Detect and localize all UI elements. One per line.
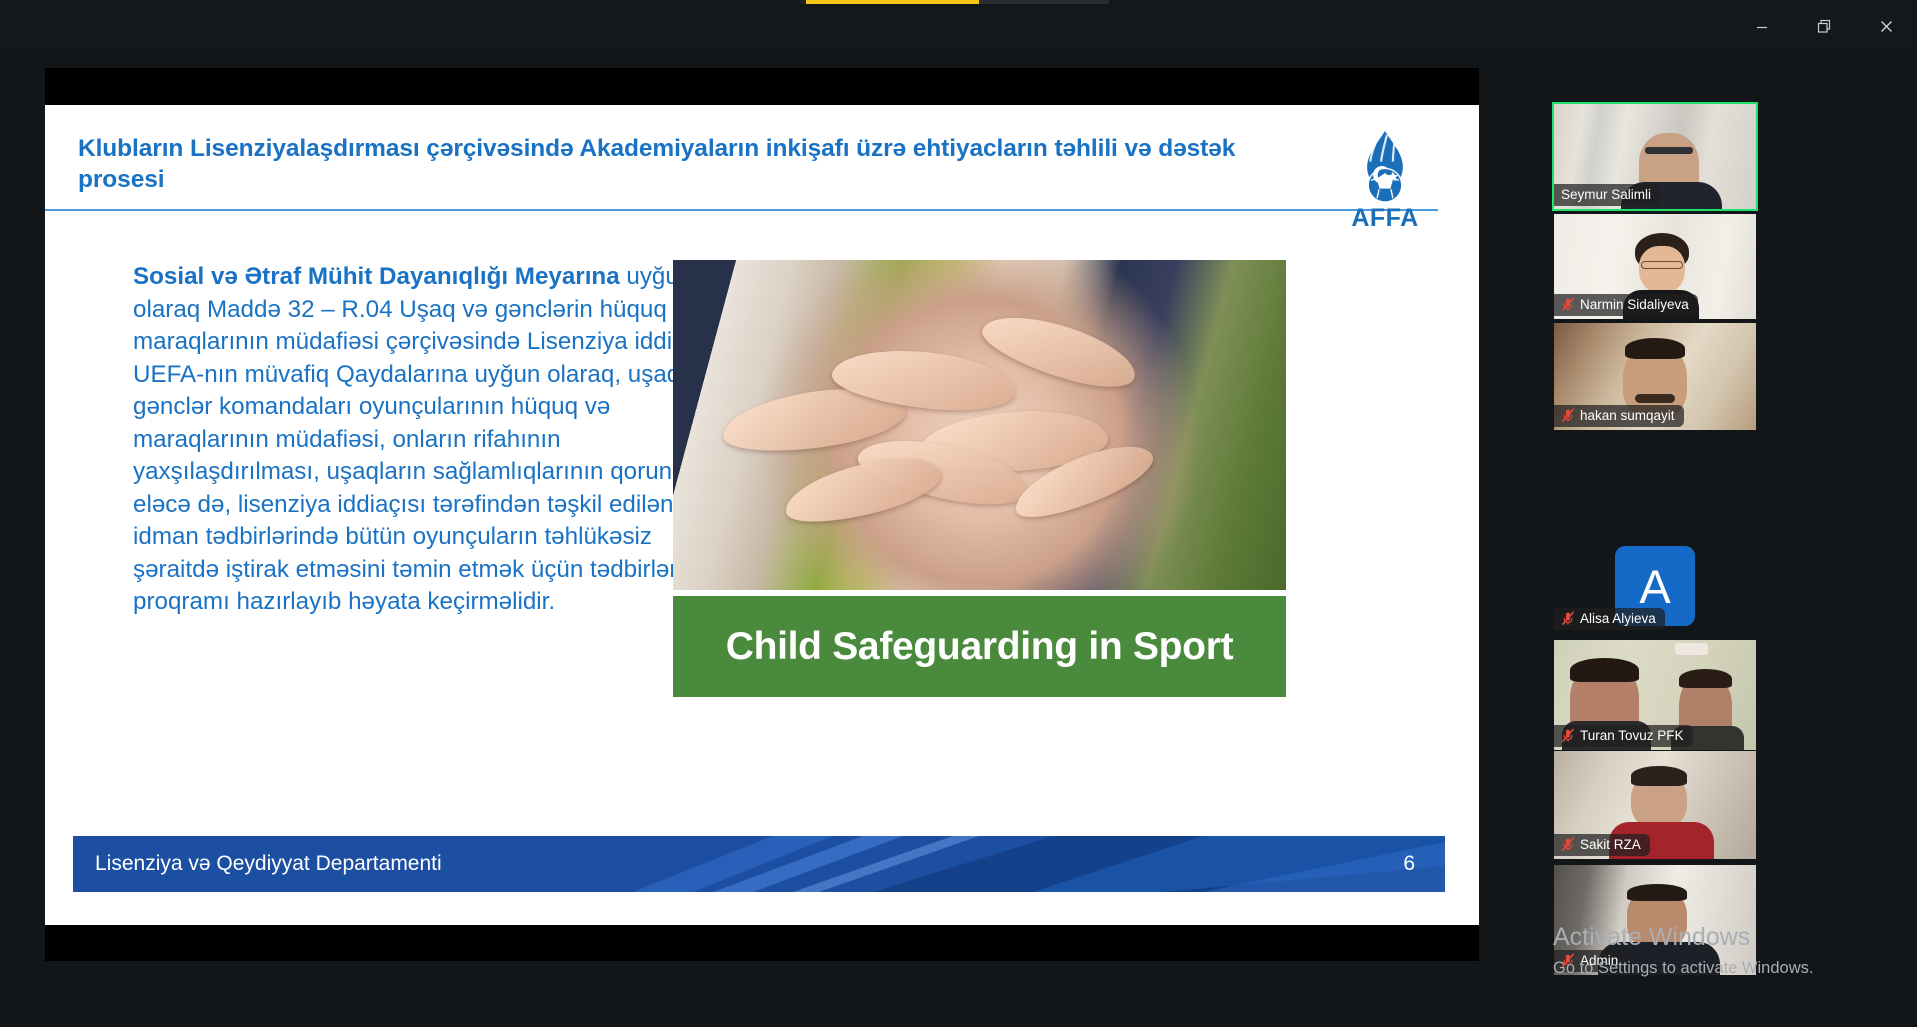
participant-tile-admin[interactable]: Admin bbox=[1554, 865, 1756, 975]
slide-body-text: Sosial və Ətraf Mühit Dayanıqlığı Meyarı… bbox=[133, 261, 738, 619]
participant-name: Narmin Sidaliyeva bbox=[1580, 297, 1689, 312]
restore-button[interactable] bbox=[1793, 0, 1855, 53]
shared-screen-stage[interactable]: Klubların Lisenziyalaşdırması çərçivəsin… bbox=[45, 68, 1479, 961]
participant-name: hakan sumqayit bbox=[1580, 408, 1675, 423]
participant-name: Alisa Alyieva bbox=[1580, 611, 1656, 626]
presentation-slide: Klubların Lisenziyalaşdırması çərçivəsin… bbox=[45, 105, 1479, 925]
participant-name-badge: Admin bbox=[1554, 950, 1627, 972]
close-icon bbox=[1878, 18, 1895, 35]
close-button[interactable] bbox=[1855, 0, 1917, 53]
microphone-muted-icon bbox=[1561, 611, 1575, 626]
participant-tile-hakan-sumqayit[interactable]: hakan sumqayit bbox=[1554, 323, 1756, 430]
app-root: Klubların Lisenziyalaşdırması çərçivəsin… bbox=[0, 0, 1917, 1027]
participant-tile-seymur-salimli[interactable]: Seymur Salimli bbox=[1554, 104, 1756, 209]
participant-filmstrip[interactable]: Seymur Salimli Narmin Sidaliyeva bbox=[1492, 68, 1917, 961]
footer-department-label: Lisenziya və Qeydiyyat Departamenti bbox=[95, 852, 442, 876]
microphone-muted-icon bbox=[1561, 408, 1575, 423]
avatar-initial: A bbox=[1639, 559, 1670, 614]
microphone-muted-icon bbox=[1561, 953, 1575, 968]
participant-name-badge: Sakit RZA bbox=[1554, 834, 1650, 856]
slide-body-rest: uyğun olaraq Maddə 32 – R.04 Uşaq və gən… bbox=[133, 263, 731, 615]
slide-footer-bar: Lisenziya və Qeydiyyat Departamenti 6 bbox=[73, 836, 1445, 892]
minimize-button[interactable] bbox=[1731, 0, 1793, 53]
participant-name-badge: hakan sumqayit bbox=[1554, 405, 1684, 427]
title-divider bbox=[45, 209, 1438, 211]
participant-name-badge: Narmin Sidaliyeva bbox=[1554, 294, 1698, 316]
window-titlebar bbox=[0, 0, 1917, 53]
affa-flame-ball-icon bbox=[1348, 129, 1422, 206]
clipped-toolbar-strip bbox=[800, 0, 1109, 4]
participant-name: Sakit RZA bbox=[1580, 837, 1641, 852]
affa-logo: AFFA bbox=[1331, 129, 1439, 233]
participant-name-badge: Seymur Salimli bbox=[1554, 184, 1660, 206]
microphone-muted-icon bbox=[1561, 728, 1575, 743]
photo-caption: Child Safeguarding in Sport bbox=[673, 596, 1286, 697]
participant-tile-sakit-rza[interactable]: Sakit RZA bbox=[1554, 751, 1756, 859]
participant-tile-turan-tovuz-pfk[interactable]: Turan Tovuz PFK bbox=[1554, 640, 1756, 750]
slide-photo-block: Child Safeguarding in Sport bbox=[673, 260, 1286, 697]
microphone-muted-icon bbox=[1561, 837, 1575, 852]
slide-body-lead: Sosial və Ətraf Mühit Dayanıqlığı Meyarı… bbox=[133, 263, 620, 290]
participant-tile-narmin-sidaliyeva[interactable]: Narmin Sidaliyeva bbox=[1554, 214, 1756, 319]
participant-name: Admin bbox=[1580, 953, 1618, 968]
hands-together-photo bbox=[673, 260, 1286, 590]
participant-tile-alisa-alyieva[interactable]: A Alisa Alyieva bbox=[1554, 540, 1756, 636]
footer-page-number: 6 bbox=[1403, 852, 1415, 876]
participant-name-badge: Turan Tovuz PFK bbox=[1554, 725, 1693, 747]
participant-name: Turan Tovuz PFK bbox=[1580, 728, 1684, 743]
microphone-muted-icon bbox=[1561, 297, 1575, 312]
window-controls bbox=[1731, 0, 1917, 53]
restore-icon bbox=[1816, 18, 1833, 35]
minimize-icon bbox=[1754, 19, 1770, 35]
slide-title: Klubların Lisenziyalaşdırması çərçivəsin… bbox=[78, 133, 1318, 196]
participant-name: Seymur Salimli bbox=[1561, 187, 1651, 202]
affa-wordmark: AFFA bbox=[1351, 204, 1418, 233]
participant-name-badge: Alisa Alyieva bbox=[1554, 608, 1665, 630]
